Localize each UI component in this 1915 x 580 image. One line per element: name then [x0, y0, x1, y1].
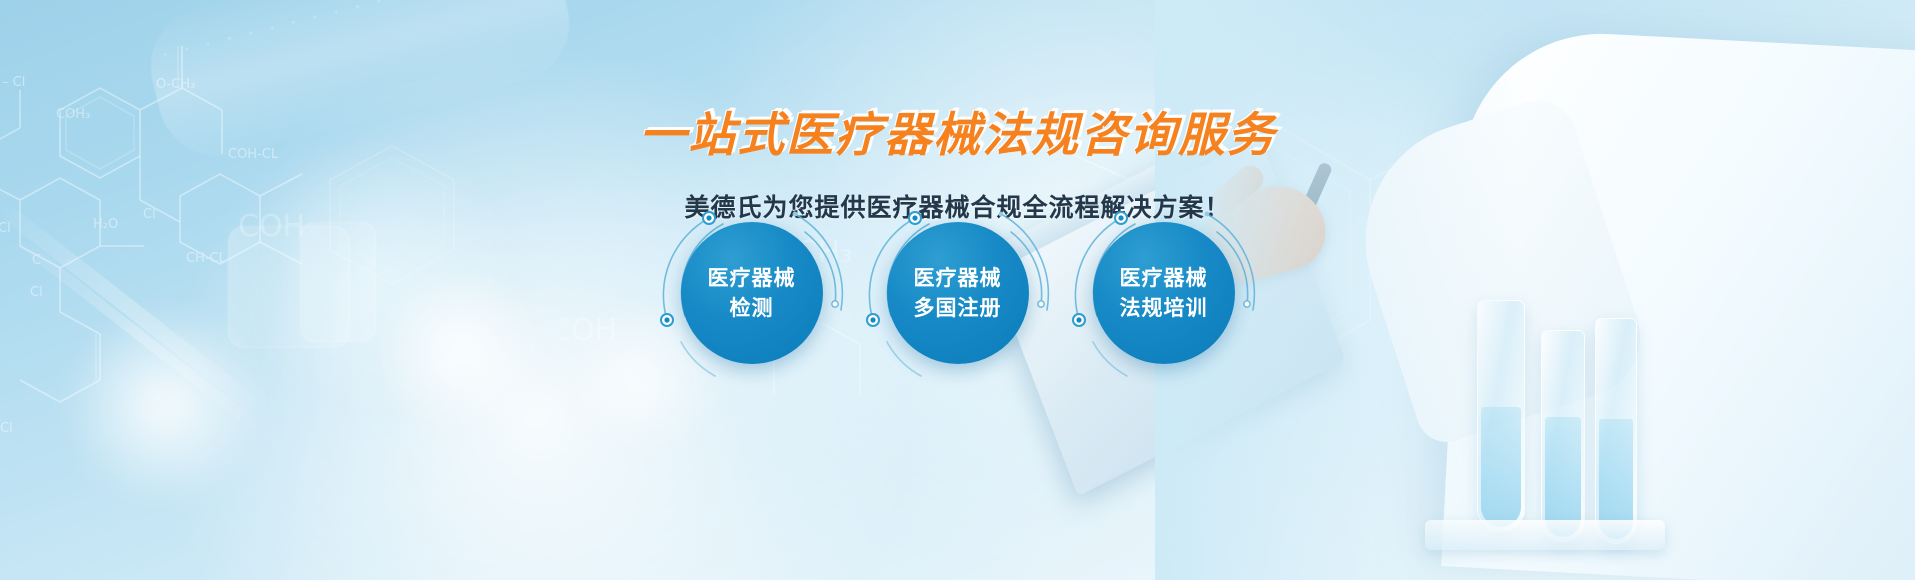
service-label-line2: 检测 — [730, 294, 774, 322]
banner-subtitle: 美德氏为您提供医疗器械合规全流程解决方案！ — [0, 188, 1915, 224]
svg-text:O-CH₃: O-CH₃ — [156, 77, 195, 92]
service-circle-registration[interactable]: 医疗器械 多国注册 — [887, 222, 1029, 364]
service-circle-training[interactable]: 医疗器械 法规培训 — [1093, 222, 1235, 364]
service-label-line2: 法规培训 — [1120, 294, 1208, 322]
service-circle-list: 医疗器械 检测 医疗器械 — [0, 222, 1915, 372]
promo-banner: – Cl O-CH₃ COH₃ COH-CL H₂O Cl Cl C Cl CH… — [0, 0, 1915, 580]
service-label-line1: 医疗器械 — [914, 264, 1002, 292]
service-label-line1: 医疗器械 — [708, 264, 796, 292]
service-label-line2: 多国注册 — [914, 294, 1002, 322]
service-circle[interactable]: 医疗器械 多国注册 — [887, 222, 1029, 364]
svg-text:COH-CL: COH-CL — [228, 147, 279, 162]
svg-text:Cl: Cl — [0, 421, 13, 436]
service-label-line1: 医疗器械 — [1120, 264, 1208, 292]
service-circle-testing[interactable]: 医疗器械 检测 — [681, 222, 823, 364]
service-circle[interactable]: 医疗器械 法规培训 — [1093, 222, 1235, 364]
svg-text:COH₃: COH₃ — [56, 107, 90, 122]
service-circle[interactable]: 医疗器械 检测 — [681, 222, 823, 364]
svg-text:– Cl: – Cl — [2, 75, 25, 90]
